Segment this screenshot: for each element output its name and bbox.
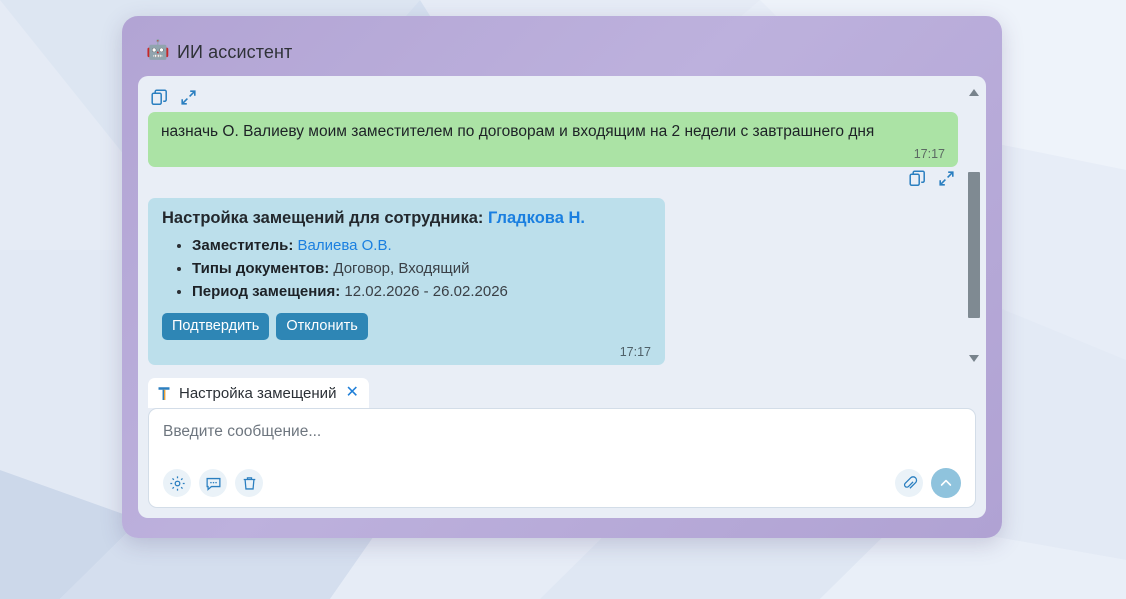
card-title: Настройка замещений для сотрудника: Глад… <box>162 209 651 228</box>
triangle-down-icon[interactable] <box>966 350 982 366</box>
paperclip-icon[interactable] <box>895 469 923 497</box>
detail-value: Договор, Входящий <box>333 260 469 277</box>
expand-icon[interactable] <box>179 88 198 107</box>
triangle-up-icon[interactable] <box>966 84 982 100</box>
chat-shell: назначь О. Валиеву моим заместителем по … <box>138 76 986 518</box>
user-message-text: назначь О. Валиеву моим заместителем по … <box>161 121 945 142</box>
list-item: Типы документов: Договор, Входящий <box>192 258 651 281</box>
tool-icon <box>157 385 172 401</box>
messages-scrollbar[interactable] <box>966 84 982 366</box>
scrollbar-thumb[interactable] <box>968 172 980 318</box>
trash-icon[interactable] <box>235 469 263 497</box>
user-message-toolbar <box>148 86 958 111</box>
close-icon[interactable]: ✕ <box>345 385 358 401</box>
assistant-message-toolbar <box>148 167 958 192</box>
scrollbar-track[interactable] <box>966 100 982 350</box>
detail-value[interactable]: Валиева О.В. <box>298 237 392 254</box>
composer-toolbar <box>163 468 961 498</box>
expand-icon[interactable] <box>937 169 956 188</box>
user-message-time: 17:17 <box>161 147 945 163</box>
page-title: ИИ ассистент <box>177 42 292 63</box>
reject-button[interactable]: Отклонить <box>276 313 367 341</box>
context-chip-row: Настройка замещений ✕ <box>148 378 976 408</box>
context-chip[interactable]: Настройка замещений ✕ <box>148 378 369 408</box>
message-input[interactable] <box>163 421 961 443</box>
detail-value: 12.02.2026 - 26.02.2026 <box>344 283 507 300</box>
message-composer <box>148 408 976 508</box>
card-actions: Подтвердить Отклонить <box>162 313 651 341</box>
copy-icon[interactable] <box>908 169 927 188</box>
gear-icon[interactable] <box>163 469 191 497</box>
copy-icon[interactable] <box>150 88 169 107</box>
confirm-button[interactable]: Подтвердить <box>162 313 269 341</box>
detail-label: Заместитель: <box>192 237 293 254</box>
user-message-bubble: назначь О. Валиеву моим заместителем по … <box>148 112 958 167</box>
list-item: Период замещения: 12.02.2026 - 26.02.202… <box>192 281 651 304</box>
card-title-prefix: Настройка замещений для сотрудника: <box>162 209 483 227</box>
composer-left-tools <box>163 469 263 497</box>
composer-right-tools <box>895 468 961 498</box>
list-item: Заместитель: Валиева О.В. <box>192 235 651 258</box>
send-button[interactable] <box>931 468 961 498</box>
card-detail-list: Заместитель: Валиева О.В. Типы документо… <box>162 235 651 303</box>
card-title-entity[interactable]: Гладкова Н. <box>488 209 585 227</box>
ai-assistant-panel: 🤖 ИИ ассистент <box>122 16 1002 538</box>
robot-icon: 🤖 <box>146 41 168 63</box>
panel-header: 🤖 ИИ ассистент <box>146 37 986 67</box>
assistant-message-time: 17:17 <box>162 345 651 361</box>
assistant-message-bubble: Настройка замещений для сотрудника: Глад… <box>148 198 665 365</box>
chat-bubble-icon[interactable] <box>199 469 227 497</box>
context-chip-label: Настройка замещений <box>179 385 336 402</box>
detail-label: Типы документов: <box>192 260 329 277</box>
detail-label: Период замещения: <box>192 283 340 300</box>
messages-region: назначь О. Валиеву моим заместителем по … <box>138 76 986 368</box>
